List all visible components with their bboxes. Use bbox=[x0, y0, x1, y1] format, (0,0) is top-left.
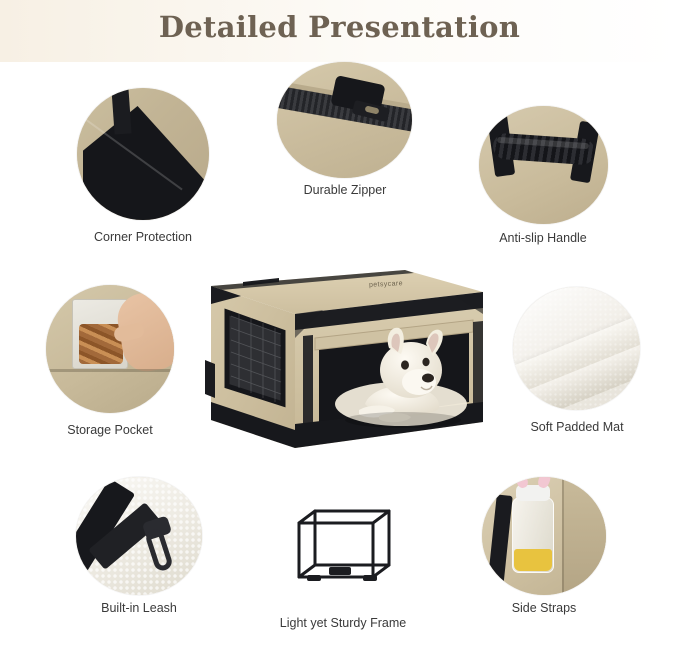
pocket-photo bbox=[46, 285, 174, 413]
caption-light-yet-sturdy-frame: Light yet Sturdy Frame bbox=[246, 616, 440, 630]
caption-soft-padded-mat: Soft Padded Mat bbox=[482, 420, 672, 434]
frame-wireframe-svg bbox=[277, 489, 408, 608]
corner-strap bbox=[111, 88, 131, 135]
feature-storage-pocket: Storage Pocket bbox=[46, 285, 174, 413]
zipper-photo bbox=[277, 62, 412, 178]
caption-side-straps: Side Straps bbox=[449, 601, 639, 615]
feature-light-yet-sturdy-frame: Light yet Sturdy Frame bbox=[277, 489, 408, 608]
bottle-liquid bbox=[514, 549, 552, 571]
mat-fleece-texture bbox=[513, 287, 640, 410]
side-pocket bbox=[562, 477, 606, 595]
crate-illustration-svg bbox=[183, 252, 496, 472]
page-title: Detailed Presentation bbox=[0, 10, 679, 44]
feature-soft-padded-mat: Soft Padded Mat bbox=[513, 287, 640, 410]
caption-anti-slip-handle: Anti-slip Handle bbox=[448, 231, 638, 245]
pocket-flap-edge bbox=[46, 369, 174, 372]
side-straps-photo bbox=[482, 477, 606, 595]
feature-durable-zipper: Durable Zipper bbox=[277, 62, 412, 178]
caption-corner-protection: Corner Protection bbox=[48, 230, 238, 244]
presentation-page: Detailed Presentation Corner Protection … bbox=[0, 0, 679, 650]
mat-photo bbox=[513, 287, 640, 410]
product-photo: petsycare bbox=[183, 252, 496, 472]
feature-anti-slip-handle: Anti-slip Handle bbox=[479, 106, 608, 224]
crate-corner-photo bbox=[77, 88, 209, 220]
feature-corner-protection: Corner Protection bbox=[77, 88, 209, 220]
caption-durable-zipper: Durable Zipper bbox=[250, 183, 440, 197]
caption-storage-pocket: Storage Pocket bbox=[15, 423, 205, 437]
frame-diagram bbox=[277, 489, 408, 608]
caption-built-in-leash: Built-in Leash bbox=[44, 601, 234, 615]
feature-built-in-leash: Built-in Leash bbox=[76, 477, 202, 595]
handle-photo bbox=[479, 106, 608, 224]
leash-photo bbox=[76, 477, 202, 595]
feature-side-straps: Side Straps bbox=[482, 477, 606, 595]
